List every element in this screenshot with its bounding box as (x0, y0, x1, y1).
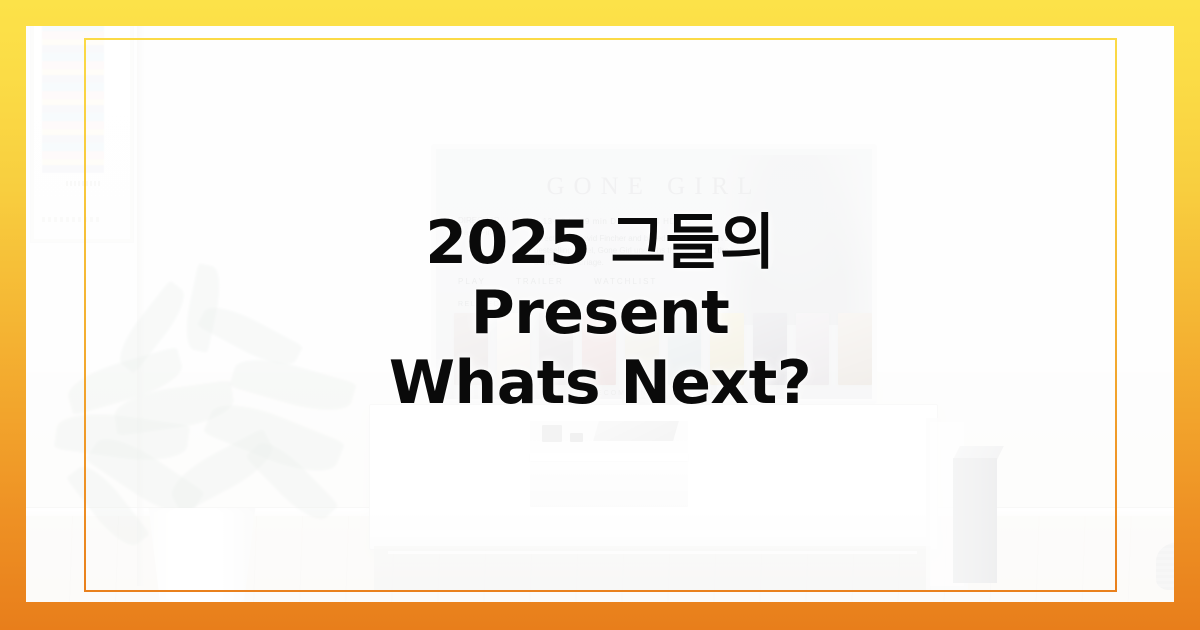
tv-movie-title: GONE GIRL (436, 173, 872, 201)
tv-console (369, 404, 938, 550)
headline-line-2: Present (0, 278, 1200, 348)
console-shelf (530, 453, 688, 461)
headline: 2025 그들의 Present Whats Next? (0, 208, 1200, 418)
console-device-c (593, 421, 679, 441)
console-device-a (542, 425, 562, 442)
headline-line-3: Whats Next? (0, 348, 1200, 418)
floor-speaker (953, 458, 997, 583)
console-plinth (374, 546, 931, 590)
wall-art-signature (66, 181, 100, 186)
wall-art-stripes (42, 26, 104, 173)
plant-pot (144, 508, 260, 602)
headline-line-1: 2025 그들의 (0, 208, 1200, 278)
console-device-b (570, 433, 583, 442)
thumbnail-canvas: GONE GIRL DIRECTOR David Fincher 88% 13+… (0, 0, 1200, 630)
